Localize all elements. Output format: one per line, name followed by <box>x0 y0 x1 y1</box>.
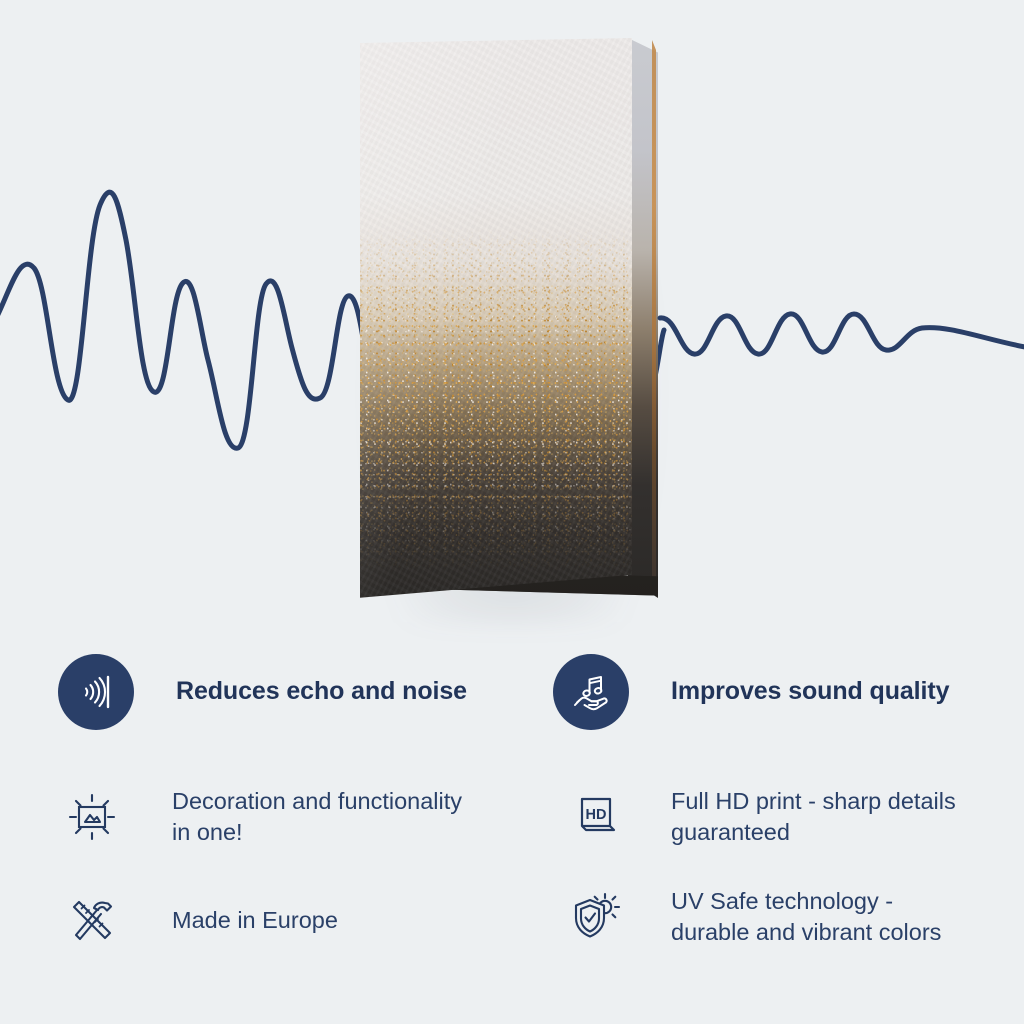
feature-uv-safe-technology: UV Safe technology - durable and vibrant… <box>567 886 941 947</box>
feature-label: UV Safe technology - durable and vibrant… <box>671 886 941 947</box>
hd-print-icon: HD <box>567 787 627 847</box>
feature-reduces-echo: Reduces echo and noise <box>58 654 467 730</box>
feature-full-hd-print: HD Full HD print - sharp details guarant… <box>567 786 956 847</box>
feature-label: Decoration and functionality in one! <box>172 786 462 847</box>
feature-label: Improves sound quality <box>671 676 949 707</box>
feature-label: Reduces echo and noise <box>176 676 467 707</box>
shield-sun-icon <box>567 887 627 947</box>
feature-icon-wrap <box>553 654 629 730</box>
feature-list: Reduces echo and noise <box>0 638 1024 998</box>
artwork-front-face <box>360 38 632 600</box>
feature-improves-sound: Improves sound quality <box>553 654 949 730</box>
feature-icon-wrap <box>62 890 122 950</box>
hand-music-note-icon <box>553 654 629 730</box>
feature-label: Made in Europe <box>172 905 338 936</box>
artwork-sheen <box>360 38 632 600</box>
sound-wave-barrier-icon <box>58 654 134 730</box>
svg-text:HD: HD <box>586 807 607 823</box>
feature-icon-wrap <box>62 787 122 847</box>
framed-picture-rays-icon <box>62 787 122 847</box>
feature-decoration-functionality: Decoration and functionality in one! <box>62 786 462 847</box>
feature-icon-wrap: HD <box>567 787 627 847</box>
feature-label: Full HD print - sharp details guaranteed <box>671 786 956 847</box>
product-infographic: Reduces echo and noise <box>0 0 1024 1024</box>
feature-made-in-europe: Made in Europe <box>62 890 338 950</box>
feature-icon-wrap <box>567 887 627 947</box>
canvas-artwork <box>360 38 660 618</box>
feature-icon-wrap <box>58 654 134 730</box>
ruler-hammer-icon <box>62 890 122 950</box>
artwork-edge-highlight <box>652 40 656 596</box>
